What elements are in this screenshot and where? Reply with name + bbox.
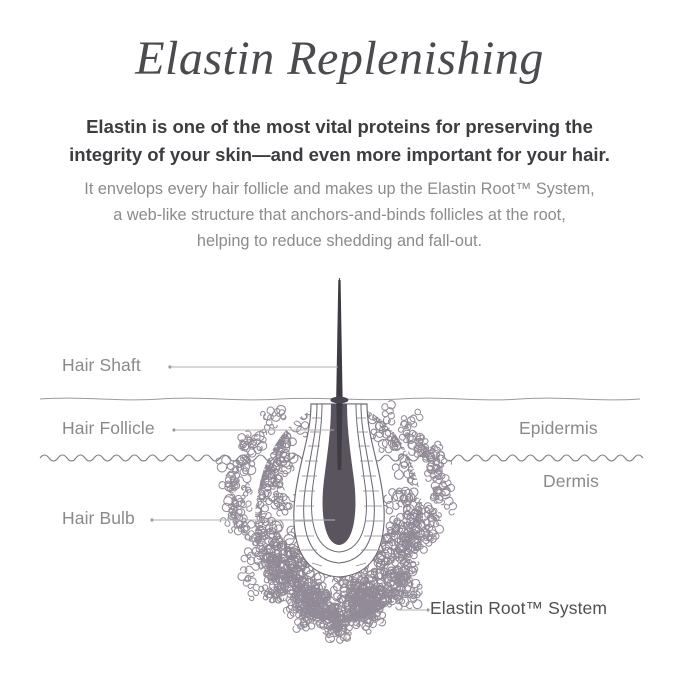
leader-dot-hair-shaft [168, 365, 171, 368]
elastin-replenishing-infographic: Elastin Replenishing Elastin is one of t… [0, 0, 679, 679]
label-dermis: Dermis [543, 471, 599, 492]
label-hair-follicle: Hair Follicle [62, 418, 155, 439]
hair-shaft-collar [330, 397, 348, 404]
leader-dot-hair-bulb [150, 518, 153, 521]
label-hair-shaft: Hair Shaft [62, 355, 141, 376]
label-epidermis: Epidermis [519, 418, 598, 439]
hair-follicle-diagram [0, 0, 679, 679]
hair-shaft [336, 280, 342, 470]
label-hair-bulb: Hair Bulb [62, 508, 135, 529]
label-elastin-root-system: Elastin Root™ System [430, 598, 607, 619]
leader-dot-hair-follicle [172, 428, 175, 431]
